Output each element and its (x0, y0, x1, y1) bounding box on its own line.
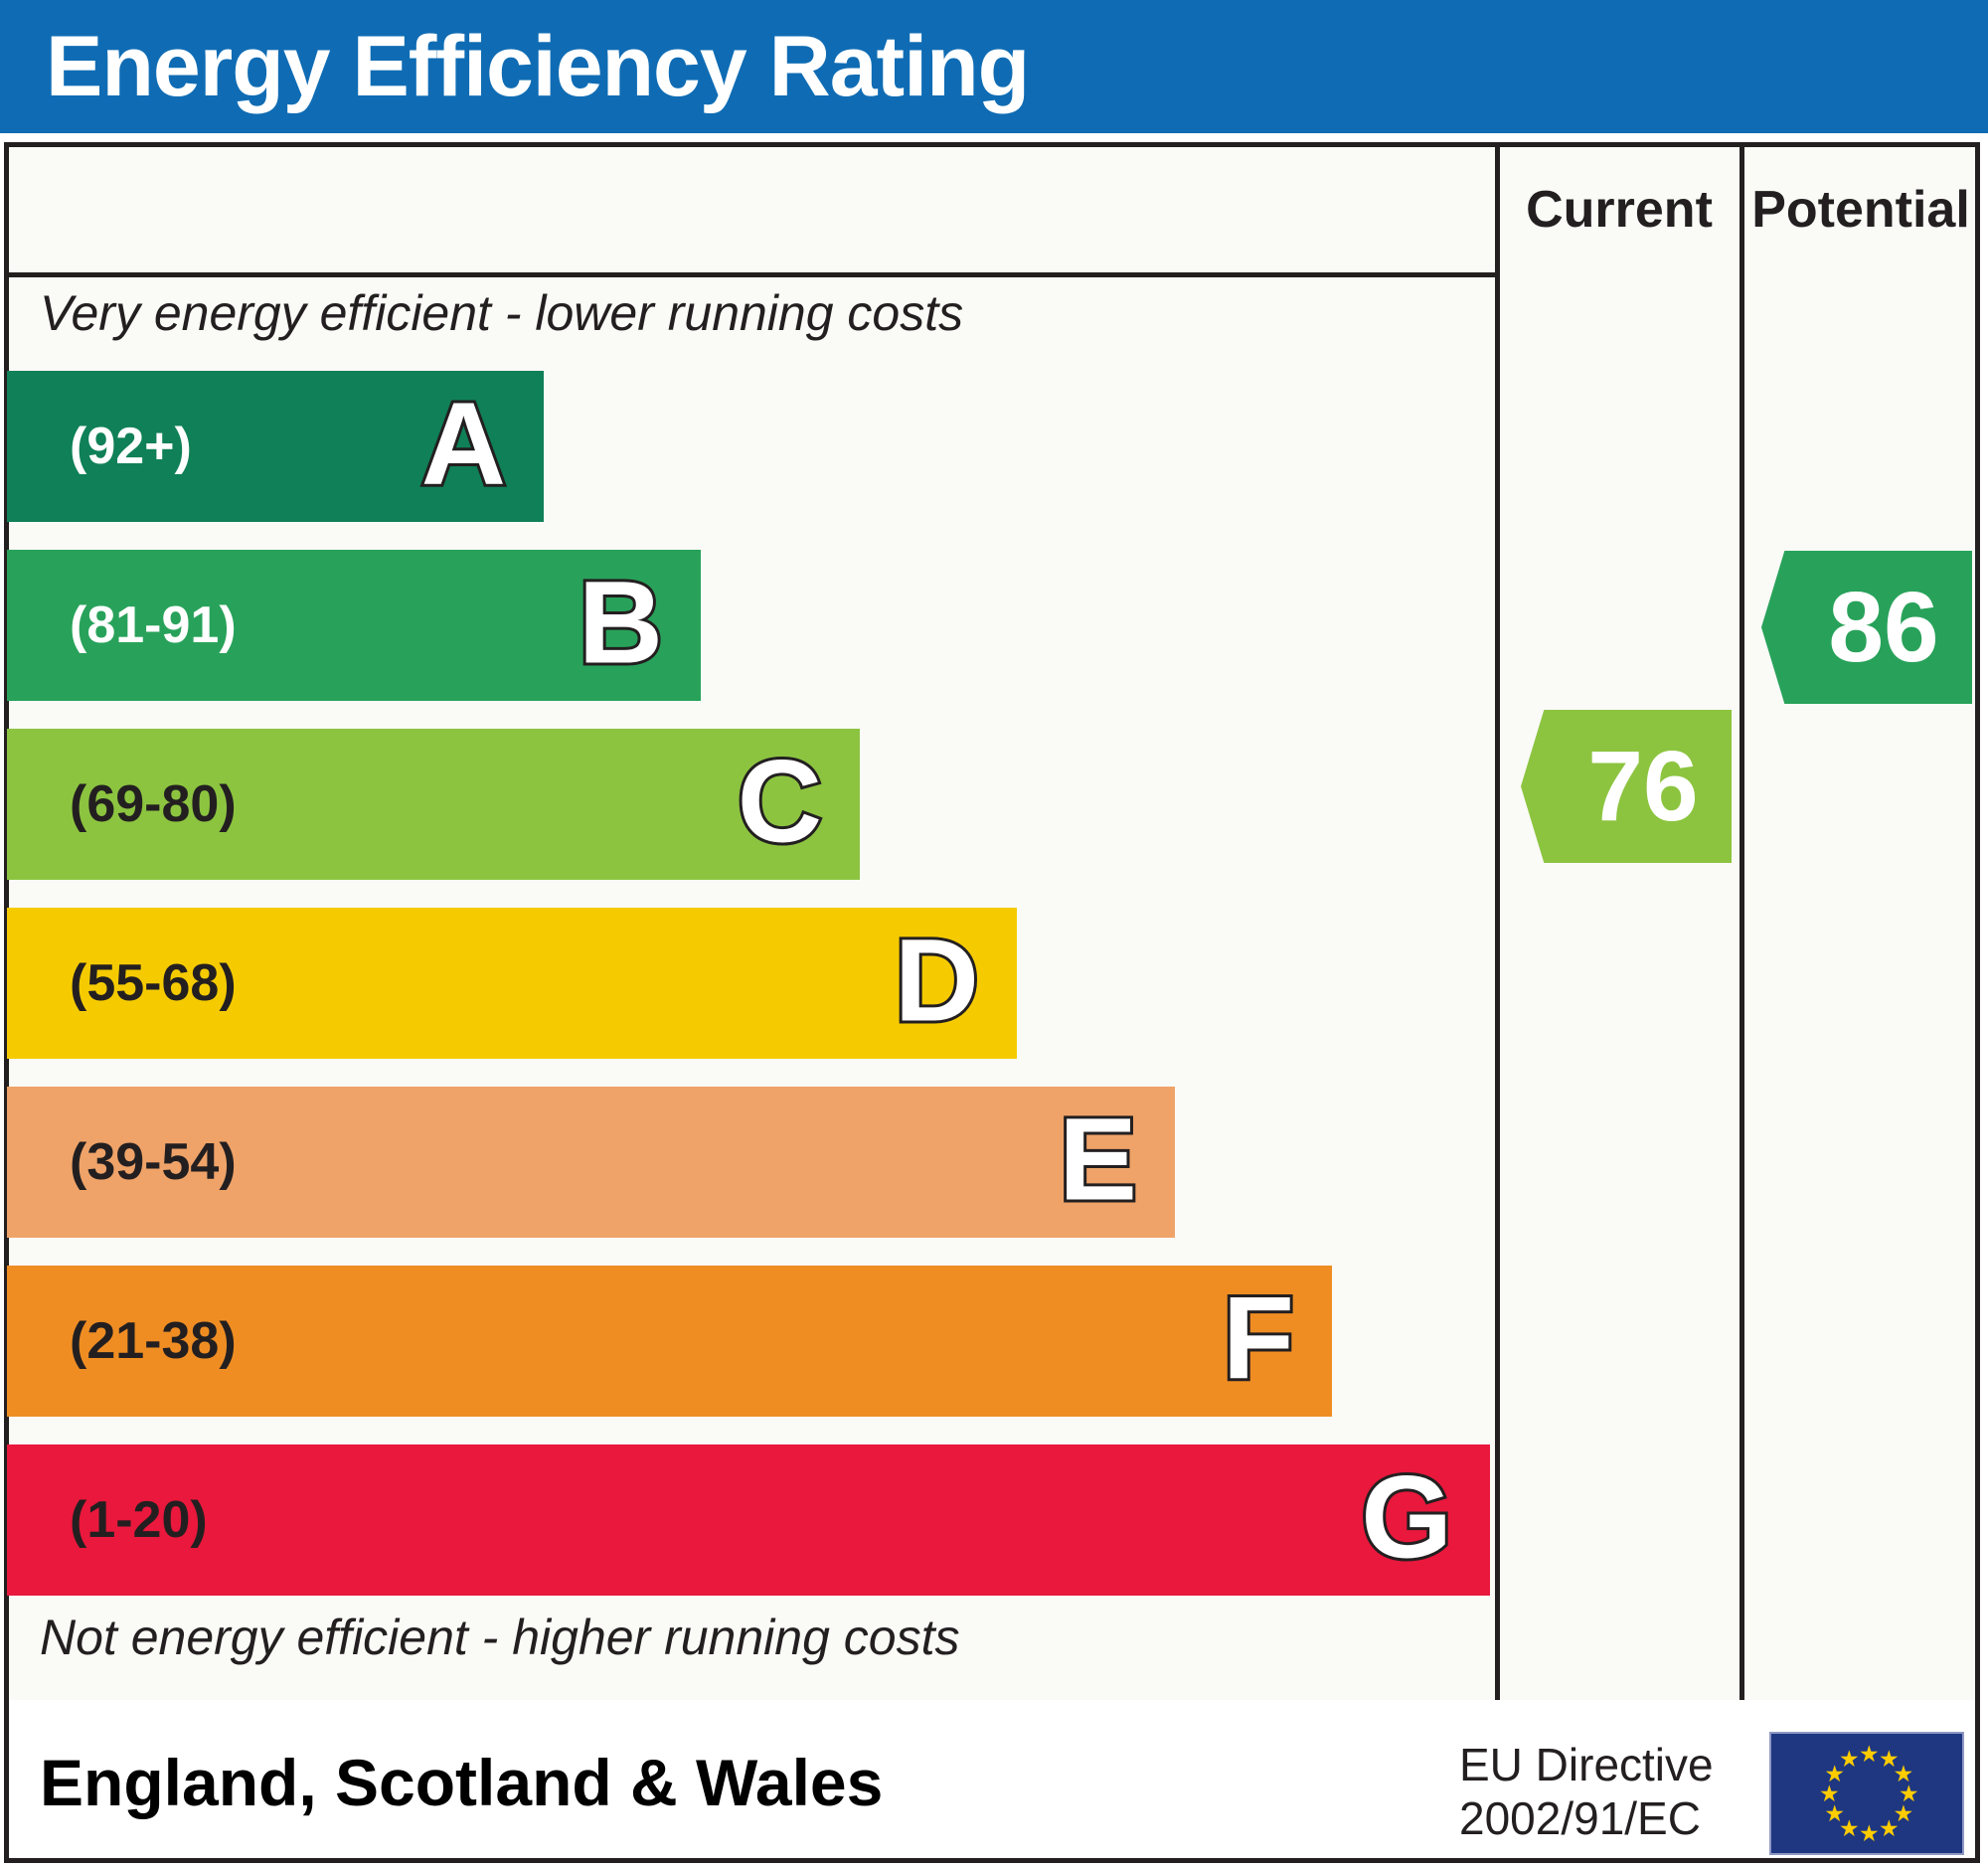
rating-band-b: (81-91)B (7, 550, 701, 701)
band-letter-f: F (1223, 1280, 1294, 1398)
column-header-potential: Potential (1741, 142, 1980, 276)
column-header-row: Current Potential (4, 142, 1980, 276)
column-divider-current (1495, 147, 1500, 1700)
eu-star-icon: ★ (1839, 1749, 1859, 1769)
directive-line-1: EU Directive (1459, 1738, 1714, 1791)
band-range-b: (81-91) (70, 599, 237, 651)
band-letter-a: A (421, 386, 506, 503)
rating-band-a: (92+)A (7, 371, 544, 522)
band-letter-g: G (1361, 1459, 1452, 1577)
eu-star-icon: ★ (1859, 1823, 1879, 1843)
eu-star-icon: ★ (1819, 1783, 1839, 1803)
header-divider-line (4, 272, 1500, 277)
eu-star-icon: ★ (1879, 1818, 1899, 1838)
page-title: Energy Efficiency Rating (46, 24, 1029, 109)
potential-rating-badge-value: 86 (1794, 578, 1938, 677)
band-letter-b: B (579, 565, 663, 682)
potential-rating-badge: 86 (1761, 551, 1972, 704)
rating-band-c: (69-80)C (7, 729, 860, 880)
rating-band-e: (39-54)E (7, 1087, 1175, 1238)
rating-band-g: (1-20)G (7, 1444, 1490, 1596)
footer-region-label: England, Scotland & Wales (40, 1750, 883, 1815)
energy-efficiency-rating-chart: Energy Efficiency Rating Current Potenti… (0, 0, 1988, 1867)
directive-line-2: 2002/91/EC (1459, 1791, 1714, 1845)
column-divider-potential (1739, 147, 1744, 1700)
band-range-c: (69-80) (70, 778, 237, 830)
caption-very-efficient: Very energy efficient - lower running co… (40, 288, 963, 338)
eu-star-icon: ★ (1824, 1803, 1844, 1823)
current-rating-badge-value: 76 (1554, 737, 1698, 836)
footer-directive-label: EU Directive 2002/91/EC (1459, 1738, 1714, 1845)
rating-band-f: (21-38)F (7, 1266, 1332, 1417)
band-range-g: (1-20) (70, 1494, 208, 1546)
band-range-a: (92+) (70, 421, 192, 472)
current-rating-badge: 76 (1521, 710, 1732, 863)
band-range-d: (55-68) (70, 957, 237, 1009)
band-letter-c: C (738, 744, 822, 861)
band-range-f: (21-38) (70, 1315, 237, 1367)
column-header-current: Current (1497, 142, 1741, 276)
band-range-e: (39-54) (70, 1136, 237, 1188)
band-letter-d: D (895, 923, 979, 1040)
caption-not-efficient: Not energy efficient - higher running co… (40, 1612, 960, 1662)
eu-star-icon: ★ (1859, 1744, 1879, 1764)
title-bar: Energy Efficiency Rating (0, 0, 1988, 133)
band-letter-e: E (1059, 1102, 1137, 1219)
rating-band-d: (55-68)D (7, 908, 1017, 1059)
eu-flag-icon: ★★★★★★★★★★★★ (1769, 1732, 1964, 1855)
